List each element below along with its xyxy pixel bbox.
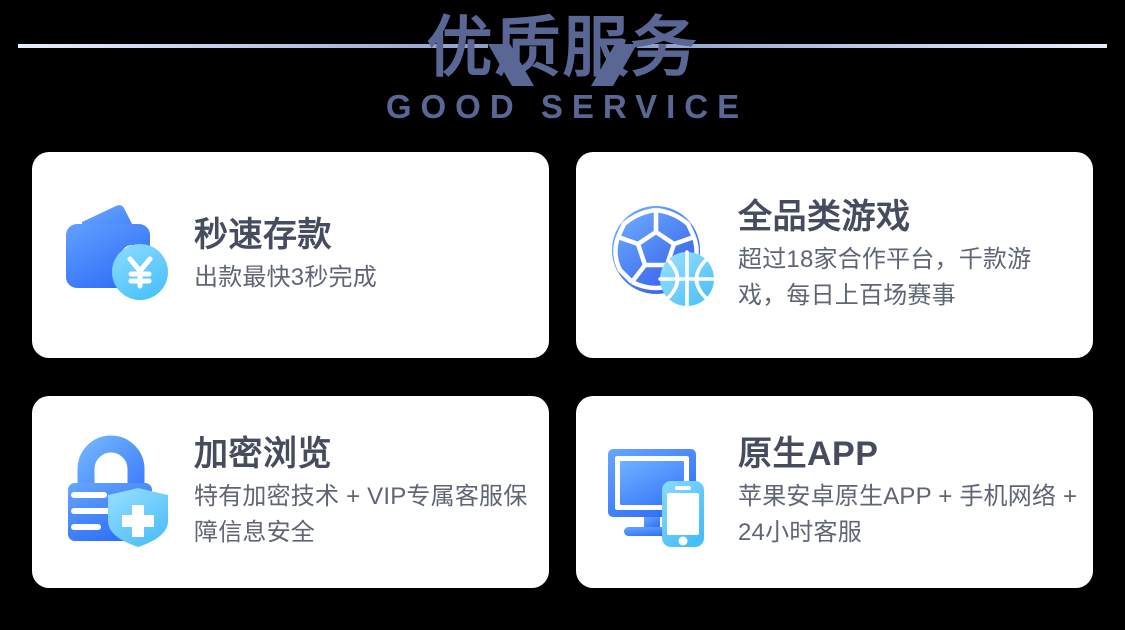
card-title: 原生APP: [738, 433, 1079, 475]
feature-card-encryption[interactable]: 加密浏览 特有加密技术 + VIP专属客服保障信息安全: [32, 396, 549, 588]
page-header: 优质服务 GOOD SERVICE: [0, 0, 1125, 148]
feature-card-games[interactable]: 全品类游戏 超过18家合作平台，千款游戏，每日上百场赛事: [576, 152, 1093, 358]
card-text-block: 加密浏览 特有加密技术 + VIP专属客服保障信息安全: [194, 433, 535, 551]
feature-card-native-app[interactable]: 原生APP 苹果安卓原生APP + 手机网络 + 24小时客服: [576, 396, 1093, 588]
monitor-phone-icon: [602, 433, 724, 551]
lock-shield-icon: [58, 433, 180, 551]
soccer-basketball-icon: [602, 194, 724, 316]
card-description: 超过18家合作平台，千款游戏，每日上百场赛事: [738, 242, 1079, 314]
wallet-yen-icon: [58, 194, 180, 316]
page-subtitle: GOOD SERVICE: [0, 86, 1125, 126]
card-title: 加密浏览: [194, 433, 535, 475]
card-description: 出款最快3秒完成: [194, 260, 535, 296]
card-description: 苹果安卓原生APP + 手机网络 + 24小时客服: [738, 479, 1079, 551]
card-title: 全品类游戏: [738, 196, 1079, 238]
card-text-block: 全品类游戏 超过18家合作平台，千款游戏，每日上百场赛事: [738, 196, 1079, 314]
feature-card-deposit[interactable]: 秒速存款 出款最快3秒完成: [32, 152, 549, 358]
page-title: 优质服务: [0, 0, 1125, 86]
feature-card-grid: 秒速存款 出款最快3秒完成: [32, 152, 1093, 588]
header-title-block: 优质服务 GOOD SERVICE: [0, 0, 1125, 126]
card-text-block: 原生APP 苹果安卓原生APP + 手机网络 + 24小时客服: [738, 433, 1079, 551]
card-title: 秒速存款: [194, 214, 535, 256]
card-description: 特有加密技术 + VIP专属客服保障信息安全: [194, 479, 535, 551]
card-text-block: 秒速存款 出款最快3秒完成: [194, 214, 535, 296]
